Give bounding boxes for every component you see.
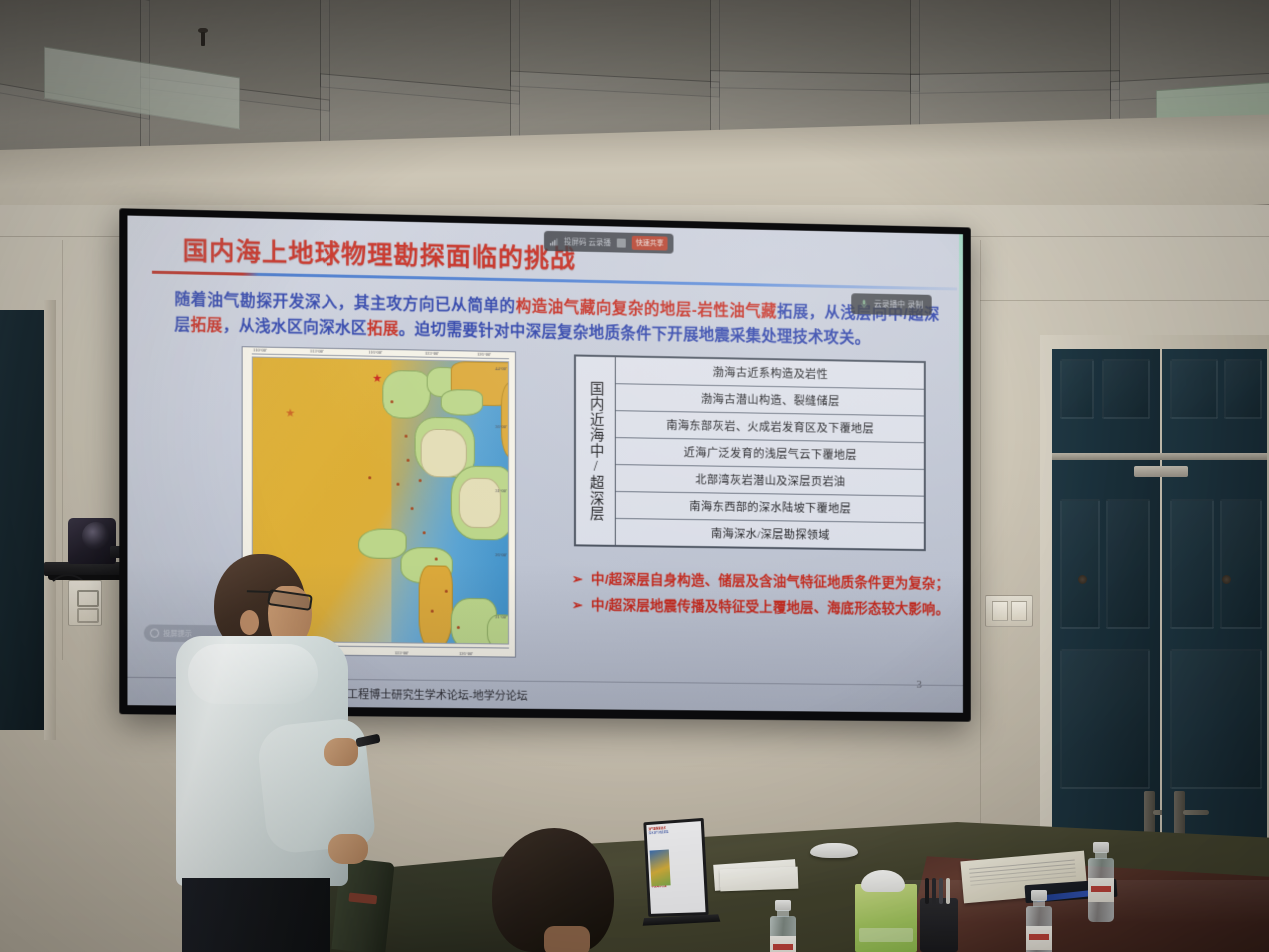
body-seg-red-2: 拓展 bbox=[191, 317, 223, 335]
table-rows: 渤海古近系构造及岩性 渤海古潜山构造、裂缝储层 南海东部灰岩、火成岩发育区及下覆… bbox=[616, 357, 924, 549]
bottle-label bbox=[770, 936, 796, 952]
shirt-highlight bbox=[188, 644, 318, 704]
presenter bbox=[176, 548, 408, 952]
conference-room-scene: 国内海上地球物理勘探面临的挑战 随着油气勘探开发深入，其主攻方向已从简单的构造油… bbox=[0, 0, 1269, 952]
pen-holder bbox=[920, 898, 958, 952]
door-push-plate[interactable] bbox=[1134, 466, 1188, 477]
bullet-text: 中/超深层地震传播及特征受上覆地层、海底形态较大影响。 bbox=[591, 593, 949, 623]
star-marker: ★ bbox=[285, 408, 295, 419]
door-leaf-right[interactable] bbox=[1162, 349, 1267, 895]
body-seg-blue-3: ，从 bbox=[223, 318, 255, 336]
bottle-label bbox=[1088, 878, 1114, 902]
presenter-legs bbox=[182, 878, 330, 952]
camera-lens-icon bbox=[82, 522, 110, 550]
slide-body-text: 随着油气勘探开发深入，其主攻方向已从简单的构造油气藏向复杂的地层-岩性油气藏拓展… bbox=[174, 287, 939, 352]
screen-icon[interactable] bbox=[617, 238, 626, 247]
side-door[interactable] bbox=[0, 310, 48, 730]
water-bottle bbox=[770, 900, 796, 952]
pen[interactable] bbox=[925, 878, 929, 904]
wireless-mouse[interactable] bbox=[810, 843, 858, 858]
map-tick-right-1: 44°00' bbox=[495, 366, 507, 371]
double-entry-door[interactable] bbox=[1040, 335, 1269, 895]
arrow-bullet-icon: ➢ bbox=[572, 566, 583, 592]
body-seg-blue-1: 随着油气勘探开发深入，其主攻方向已从简单的 bbox=[174, 291, 515, 315]
laptop-screen[interactable]: 油气勘探新技术 深水油气地震采集 中深层储层预测 宽频宽方位处理 中国海洋石油 bbox=[646, 821, 705, 914]
laptop-slide-image bbox=[650, 849, 671, 886]
water-bottle bbox=[1088, 842, 1114, 922]
light-switch-panel[interactable] bbox=[985, 595, 1033, 627]
map-tick-top-1: 110°00' bbox=[253, 347, 267, 352]
tissue-box-label bbox=[859, 928, 913, 942]
screen-cast-toolbar[interactable]: 投屏码 云录播 快速共享 bbox=[544, 231, 674, 254]
bottle-label bbox=[1026, 926, 1052, 950]
attendee-neck bbox=[544, 926, 590, 952]
pen[interactable] bbox=[939, 878, 943, 904]
water-bottle bbox=[1026, 890, 1052, 952]
paper-sheet bbox=[720, 867, 799, 892]
presenter-hand bbox=[328, 834, 368, 864]
map-tick-top-2: 113°00' bbox=[310, 348, 324, 353]
star-marker: ★ bbox=[372, 374, 382, 385]
map-tick-bottom-4: 126°00' bbox=[459, 651, 473, 656]
signal-bars-icon bbox=[550, 237, 558, 246]
table-row: 南海深水/深层勘探领域 bbox=[616, 519, 924, 549]
presenter-laptop[interactable]: 油气勘探新技术 深水油气地震采集 中深层储层预测 宽频宽方位处理 中国海洋石油 bbox=[642, 818, 712, 933]
map-tick-right-4: 26°00' bbox=[495, 552, 507, 557]
tissue-box bbox=[855, 884, 917, 952]
body-seg-red-3: 拓展 bbox=[367, 320, 399, 338]
wall-power-outlet[interactable] bbox=[68, 580, 102, 626]
map-tick-right-5: 21°00' bbox=[495, 614, 507, 619]
map-tick-top-4: 123°00' bbox=[425, 351, 439, 356]
map-tick-right-2: 36°00' bbox=[495, 424, 507, 429]
presenter-hand bbox=[324, 738, 358, 766]
recording-toolbar[interactable]: 云录播中 录制 bbox=[851, 293, 932, 315]
info-icon bbox=[150, 629, 159, 638]
map-tick-top-3: 116°00' bbox=[368, 350, 382, 355]
seated-attendee bbox=[492, 822, 622, 952]
body-seg-blue-5: 。迫切需要针对中深层复杂地质条件下开展地震采集处理技术攻关。 bbox=[399, 321, 870, 347]
microphone-icon bbox=[860, 299, 868, 308]
light-switch[interactable] bbox=[1011, 601, 1027, 621]
cast-toolbar-label: 投屏码 云录播 bbox=[564, 236, 611, 248]
list-item: ➢ 中/超深层地震传播及特征受上覆地层、海底形态较大影响。 bbox=[572, 592, 963, 623]
laptop-lid: 油气勘探新技术 深水油气地震采集 中深层储层预测 宽频宽方位处理 中国海洋石油 bbox=[643, 818, 708, 917]
transom-divider bbox=[1052, 453, 1267, 460]
fire-sprinkler-head bbox=[196, 28, 210, 48]
recording-toolbar-label: 云录播中 录制 bbox=[874, 299, 923, 311]
map-tick-top-5: 126°00' bbox=[477, 352, 491, 357]
light-switch[interactable] bbox=[992, 601, 1008, 621]
slide-bullet-list: ➢ 中/超深层自身构造、储层及含油气特征地质条件更为复杂； ➢ 中/超深层地震传… bbox=[572, 566, 963, 623]
table-side-label: 国内近海中/超深层 bbox=[576, 356, 616, 544]
body-seg-blue-4: 浅水区向深水区 bbox=[255, 318, 367, 337]
pen[interactable] bbox=[932, 878, 936, 904]
screen-edge-glow bbox=[959, 234, 963, 435]
pen[interactable] bbox=[946, 878, 950, 904]
challenges-table: 国内近海中/超深层 渤海古近系构造及岩性 渤海古潜山构造、裂缝储层 南海东部灰岩… bbox=[574, 354, 926, 551]
door-leaf-left[interactable] bbox=[1052, 349, 1160, 895]
presenter-ear bbox=[240, 610, 259, 635]
quick-share-button[interactable]: 快速共享 bbox=[632, 236, 668, 251]
arrow-bullet-icon: ➢ bbox=[572, 592, 583, 618]
map-tick-right-3: 31°00' bbox=[495, 488, 507, 493]
body-seg-red-1: 构造油气藏向复杂的地层-岩性油气藏 bbox=[516, 298, 777, 320]
